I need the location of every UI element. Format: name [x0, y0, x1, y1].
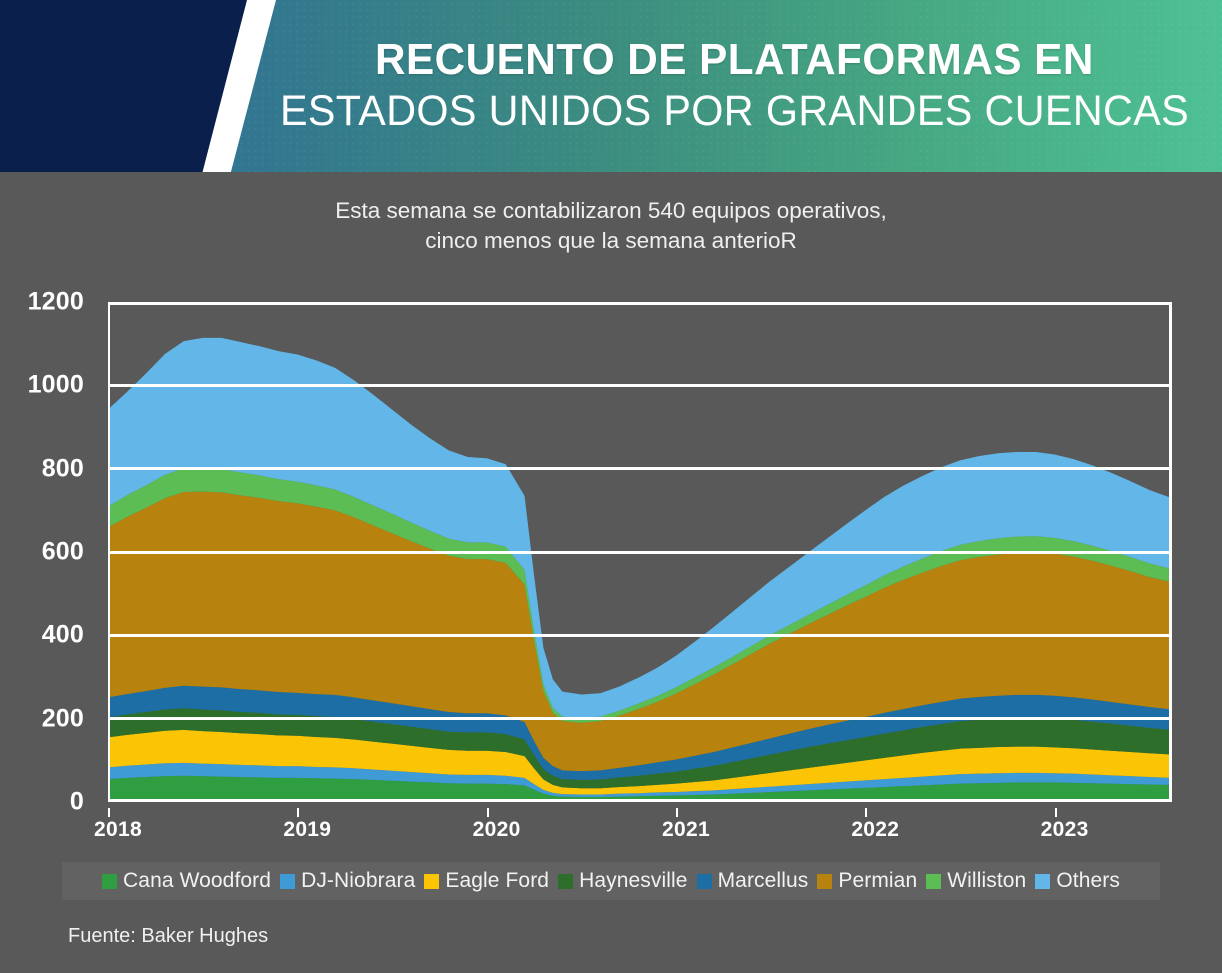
legend-swatch-icon	[1035, 874, 1050, 889]
legend-item[interactable]: Eagle Ford	[424, 869, 549, 893]
x-axis: 201820192020202120222023	[108, 808, 1172, 852]
legend-label: Cana Woodford	[123, 869, 271, 893]
x-axis-tick-mark	[487, 808, 489, 817]
header-title-group: RECUENTO DE PLATAFORMAS EN ESTADOS UNIDO…	[255, 0, 1222, 172]
y-axis-tick: 1000	[28, 371, 84, 400]
plot-region	[108, 302, 1172, 802]
legend-label: Others	[1056, 869, 1120, 893]
legend-label: Williston	[947, 869, 1026, 893]
legend-swatch-icon	[817, 874, 832, 889]
chart-area: 020040060080010001200 201820192020202120…	[0, 288, 1222, 818]
caption-line-2: cinco menos que la semana anterioR	[0, 226, 1222, 256]
legend-label: DJ-Niobrara	[301, 869, 415, 893]
chart-caption: Esta semana se contabilizaron 540 equipo…	[0, 196, 1222, 256]
infographic-page: WALLSTREETEASY RECUENTO DE PLATAFORMAS E…	[0, 0, 1222, 973]
legend-swatch-icon	[558, 874, 573, 889]
x-axis-tick: 2019	[283, 818, 331, 842]
source-note: Fuente: Baker Hughes	[68, 925, 268, 948]
chart-legend: Cana WoodfordDJ-NiobraraEagle FordHaynes…	[62, 862, 1160, 900]
page-title: RECUENTO DE PLATAFORMAS EN	[375, 37, 1094, 83]
x-axis-tick-mark	[297, 808, 299, 817]
legend-item[interactable]: DJ-Niobrara	[280, 869, 415, 893]
legend-item[interactable]: Williston	[926, 869, 1026, 893]
y-axis-tick: 0	[70, 788, 84, 817]
x-axis-tick-mark	[1055, 808, 1057, 817]
legend-swatch-icon	[926, 874, 941, 889]
x-axis-tick: 2022	[851, 818, 899, 842]
y-axis: 020040060080010001200	[0, 288, 92, 818]
legend-item[interactable]: Cana Woodford	[102, 869, 271, 893]
x-axis-tick: 2021	[662, 818, 710, 842]
header-banner: WALLSTREETEASY RECUENTO DE PLATAFORMAS E…	[0, 0, 1222, 172]
legend-swatch-icon	[424, 874, 439, 889]
page-subtitle: ESTADOS UNIDOS POR GRANDES CUENCAS	[280, 87, 1189, 135]
y-axis-tick: 600	[42, 538, 84, 567]
legend-item[interactable]: Haynesville	[558, 869, 687, 893]
x-axis-tick: 2020	[473, 818, 521, 842]
legend-label: Permian	[838, 869, 917, 893]
x-axis-tick: 2018	[94, 818, 142, 842]
legend-swatch-icon	[102, 874, 117, 889]
y-axis-tick: 400	[42, 621, 84, 650]
legend-item[interactable]: Others	[1035, 869, 1120, 893]
legend-label: Marcellus	[718, 869, 809, 893]
x-axis-tick: 2023	[1041, 818, 1089, 842]
x-axis-tick-mark	[865, 808, 867, 817]
area-chart-svg	[108, 302, 1172, 802]
legend-item[interactable]: Marcellus	[697, 869, 809, 893]
stacked-area-series	[108, 302, 1172, 802]
y-axis-tick: 1200	[28, 288, 84, 317]
legend-label: Haynesville	[579, 869, 687, 893]
x-axis-tick-mark	[108, 808, 110, 817]
caption-line-1: Esta semana se contabilizaron 540 equipo…	[0, 196, 1222, 226]
legend-label: Eagle Ford	[445, 869, 549, 893]
x-axis-tick-mark	[676, 808, 678, 817]
legend-swatch-icon	[697, 874, 712, 889]
legend-swatch-icon	[280, 874, 295, 889]
legend-item[interactable]: Permian	[817, 869, 917, 893]
y-axis-tick: 200	[42, 704, 84, 733]
y-axis-tick: 800	[42, 454, 84, 483]
